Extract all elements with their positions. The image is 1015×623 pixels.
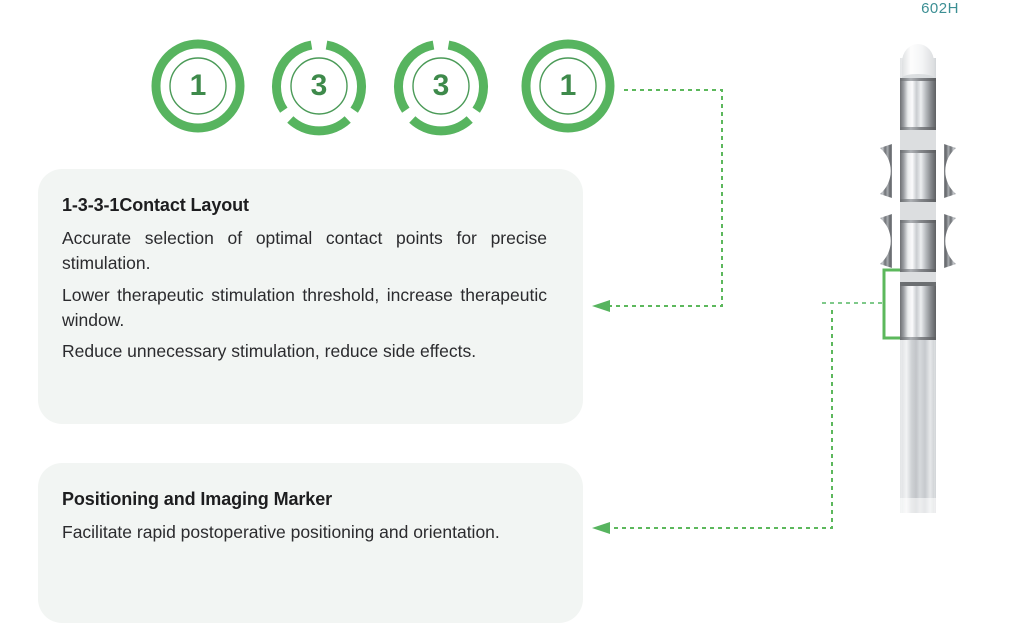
card-paragraph: Accurate selection of optimal contact po… xyxy=(62,226,547,276)
contact-badge-3b: 3 xyxy=(391,36,491,136)
info-card-positioning-marker: Positioning and Imaging Marker Facilitat… xyxy=(38,463,583,623)
contact-badge-value: 1 xyxy=(148,36,248,136)
card-paragraph: Facilitate rapid postoperative positioni… xyxy=(62,520,547,545)
contact-badge-3a: 3 xyxy=(269,36,369,136)
contact-badge-4: 1 xyxy=(518,36,618,136)
card-paragraph: Lower therapeutic stimulation threshold,… xyxy=(62,283,547,333)
contact-badge-value: 1 xyxy=(518,36,618,136)
card-paragraph: Reduce unnecessary stimulation, reduce s… xyxy=(62,339,547,364)
card-title: 1-3-3-1Contact Layout xyxy=(62,195,547,216)
connector-lead-to-card2 xyxy=(588,300,848,540)
info-card-contact-layout: 1-3-3-1Contact Layout Accurate selection… xyxy=(38,169,583,424)
card-title: Positioning and Imaging Marker xyxy=(62,489,547,510)
dbs-electrode-lead xyxy=(858,40,1008,530)
contact-badge-1: 1 xyxy=(148,36,248,136)
contact-badge-value: 3 xyxy=(269,36,369,136)
device-model-label: 602H xyxy=(880,0,1000,17)
contact-badge-value: 3 xyxy=(391,36,491,136)
